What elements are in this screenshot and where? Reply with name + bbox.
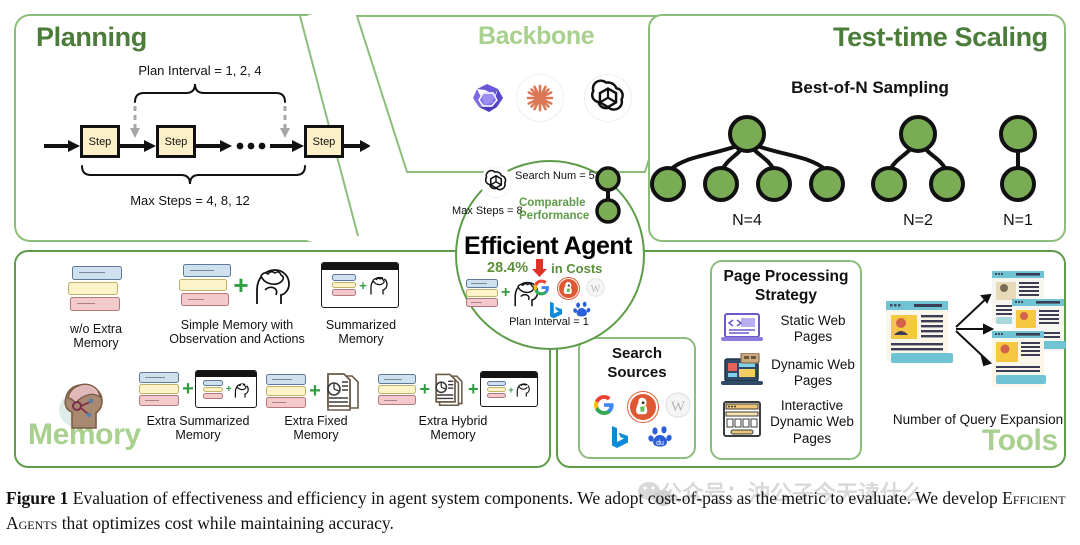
memory-item-simple: + xyxy=(160,264,310,306)
chat-stack-icon xyxy=(266,374,308,408)
plus-icon: + xyxy=(226,384,232,395)
comparable-line2: Performance xyxy=(519,210,589,222)
chat-stack-icon xyxy=(139,372,181,406)
chat-stack-icon xyxy=(466,279,500,307)
tree-n4 xyxy=(650,108,890,218)
best-of-n-subtitle: Best-of-N Sampling xyxy=(760,78,980,97)
interactive-page-icon xyxy=(719,400,765,438)
search-sources-title-line2: Sources xyxy=(607,364,666,381)
panel-title-tools: Tools xyxy=(982,424,1058,458)
memory-label-line2: Memory xyxy=(175,428,220,442)
panel-title-backbone: Backbone xyxy=(478,22,594,51)
dynamic-page-label-line1: Dynamic Web xyxy=(771,357,855,372)
plus-icon: + xyxy=(501,284,510,302)
dynamic-page-icon xyxy=(719,353,765,387)
memory-label-line1: w/o Extra xyxy=(70,322,122,336)
memory-label-extra-fixed: Extra Fixed Memory xyxy=(258,414,374,442)
memory-label-line2: Observation and Actions xyxy=(169,332,305,346)
memory-item-extra-summarized: + + xyxy=(138,370,258,408)
memory-label-line2: Memory xyxy=(73,336,118,350)
figure-caption: 公众号：沖公子今天读什么 Figure 1 Evaluation of effe… xyxy=(0,480,1080,545)
planning-plan-interval-label: Plan Interval = 1, 2, 4 xyxy=(105,64,295,79)
plus-icon: + xyxy=(309,380,321,403)
memory-label-extra-summarized: Extra Summarized Memory xyxy=(133,414,263,442)
panel-title-planning: Planning xyxy=(36,22,147,53)
caption-figure-number: Figure 1 xyxy=(6,488,68,508)
thinking-head-icon xyxy=(251,264,291,306)
page-processing-title-line2: Strategy xyxy=(755,287,817,304)
svg-text:W: W xyxy=(591,284,601,295)
plus-icon: + xyxy=(468,379,479,400)
thinking-head-icon xyxy=(515,381,530,398)
interactive-page-label-line1: Interactive xyxy=(781,398,843,413)
memory-label-line2: Memory xyxy=(338,332,383,346)
openai-logo xyxy=(584,74,632,122)
memory-item-extra-fixed: + xyxy=(262,370,368,412)
memory-item-extra-hybrid: + + xyxy=(378,370,538,408)
google-logo xyxy=(592,393,616,417)
browser-window-icon: + xyxy=(321,262,399,308)
panel-title-test-time-scaling: Test-time Scaling xyxy=(833,22,1048,53)
core-openai-icon xyxy=(480,166,512,198)
duckduckgo-logo xyxy=(628,392,658,422)
static-page-label-line2: Pages xyxy=(794,329,832,344)
search-sources-title-line1: Search xyxy=(612,345,662,362)
dynamic-page-label-line2: Pages xyxy=(794,373,832,388)
svg-text:du: du xyxy=(656,440,664,447)
search-sources-title: Search Sources xyxy=(578,345,696,383)
caption-text: Figure 1 Evaluation of effectiveness and… xyxy=(6,486,1074,537)
plus-icon: + xyxy=(508,385,513,395)
tree-n2 xyxy=(858,108,988,218)
core-cost-suffix: in Costs xyxy=(551,261,602,276)
static-page-icon xyxy=(719,312,765,344)
browser-window-icon: + xyxy=(480,371,538,407)
chat-stack-icon xyxy=(378,374,418,405)
documents-icon xyxy=(431,370,467,408)
planning-max-steps-label: Max Steps = 4, 8, 12 xyxy=(95,194,285,209)
core-wikipedia-logo: W xyxy=(586,278,605,297)
interactive-page-label-line2: Dynamic Web xyxy=(770,414,854,429)
core-google-logo xyxy=(532,278,551,297)
static-page-label: Static Web Pages xyxy=(766,313,860,346)
dynamic-page-label: Dynamic Web Pages xyxy=(762,357,864,390)
memory-item-summarized: + xyxy=(312,262,408,308)
planning-step-label: Step xyxy=(313,136,336,148)
plus-icon: + xyxy=(419,379,430,400)
tree-label-n2: N=2 xyxy=(878,212,958,230)
memory-label-line2: Memory xyxy=(430,428,475,442)
svg-text:W: W xyxy=(671,399,686,415)
planning-step-box-1: Step xyxy=(80,125,120,158)
memory-label-simple: Simple Memory with Observation and Actio… xyxy=(152,318,322,346)
wikipedia-logo: W xyxy=(665,392,691,418)
qwen-logo xyxy=(467,76,509,118)
core-duckduckgo-logo xyxy=(558,278,579,299)
interactive-page-label: Interactive Dynamic Web Pages xyxy=(760,398,864,447)
tree-label-n1: N=1 xyxy=(978,212,1058,230)
static-page-label-line1: Static Web xyxy=(780,313,845,328)
plus-icon: + xyxy=(182,378,194,401)
brain-head-icon xyxy=(46,372,126,436)
efficient-agent-title: Efficient Agent xyxy=(464,232,632,261)
figure-diagram: Planning Plan Interval = 1, 2, 4 Max Ste… xyxy=(0,0,1080,480)
bing-logo xyxy=(608,424,632,450)
memory-label-wo-extra: w/o Extra Memory xyxy=(48,322,144,350)
memory-item-wo-extra xyxy=(48,266,144,311)
documents-icon xyxy=(322,370,364,412)
tree-n1 xyxy=(980,108,1060,218)
plus-icon: + xyxy=(359,278,367,293)
core-cost-pct: 28.4% xyxy=(487,260,528,276)
memory-label-line1: Extra Fixed xyxy=(284,414,347,428)
memory-label-summarized: Summarized Memory xyxy=(308,318,414,346)
core-memory-icon-group: + xyxy=(466,278,539,308)
caption-part1: Evaluation of effectiveness and efficien… xyxy=(68,488,1002,508)
memory-label-line1: Simple Memory with xyxy=(181,318,294,332)
planning-step-box-3: Step xyxy=(304,125,344,158)
planning-step-label: Step xyxy=(165,136,188,148)
core-cost-reduction-row: 28.4% in Costs xyxy=(487,258,602,278)
memory-label-extra-hybrid: Extra Hybrid Memory xyxy=(388,414,518,442)
core-plan-interval-label: Plan Interval = 1 xyxy=(486,316,612,328)
claude-logo xyxy=(516,74,564,122)
down-arrow-icon xyxy=(531,258,548,278)
memory-label-line1: Extra Summarized xyxy=(147,414,250,428)
planning-step-box-2: Step xyxy=(156,125,196,158)
baidu-logo: du xyxy=(648,424,674,450)
query-expansion-label: Number of Query Expansion xyxy=(878,412,1078,427)
chat-stack-icon xyxy=(68,266,124,311)
core-two-node-tree-icon xyxy=(588,165,628,227)
caption-part2: that optimizes cost while maintaining ac… xyxy=(57,513,394,533)
plus-icon: + xyxy=(233,270,248,301)
memory-label-line1: Summarized xyxy=(326,318,396,332)
page-processing-title-line1: Page Processing xyxy=(724,268,849,285)
browser-window-icon: + xyxy=(195,370,257,408)
comparable-line1: Comparable xyxy=(519,197,585,209)
memory-label-line2: Memory xyxy=(293,428,338,442)
memory-label-line1: Extra Hybrid xyxy=(419,414,488,428)
page-processing-title: Page Processing Strategy xyxy=(707,267,865,306)
tree-label-n4: N=4 xyxy=(707,212,787,230)
interactive-page-label-line3: Pages xyxy=(793,431,831,446)
chat-stack-icon xyxy=(179,264,231,306)
query-expansion-illustration xyxy=(880,265,1080,415)
planning-step-label: Step xyxy=(89,136,112,148)
